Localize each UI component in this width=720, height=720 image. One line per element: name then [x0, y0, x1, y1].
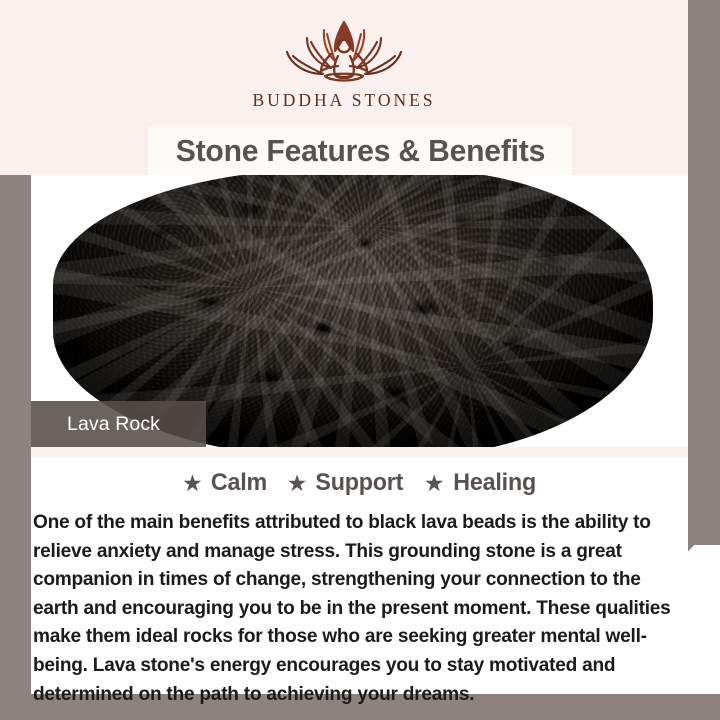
- stone-benefits-card: BUDDHA STONES Stone Features & Benefits …: [0, 0, 720, 720]
- keyword-label: Calm: [211, 469, 267, 497]
- keyword-item-support: ★ Support: [287, 469, 405, 497]
- frame-band-right: [688, 0, 720, 545]
- keyword-list: ★ Calm ★ Support ★ Healing: [31, 464, 688, 502]
- star-icon: ★: [424, 472, 445, 495]
- keyword-label: Healing: [453, 469, 536, 497]
- keyword-label: Support: [316, 469, 404, 497]
- star-icon: ★: [287, 472, 308, 495]
- title-panel: Stone Features & Benefits: [148, 126, 572, 176]
- keyword-item-healing: ★ Healing: [424, 469, 537, 497]
- frame-bevel-right: [688, 520, 720, 554]
- star-icon: ★: [182, 472, 203, 495]
- header: BUDDHA STONES Stone Features & Benefits: [0, 0, 688, 175]
- frame-band-left: [0, 175, 31, 720]
- photo-caption-label: Lava Rock: [67, 413, 160, 436]
- benefits-section: ★ Calm ★ Support ★ Healing One of the ma…: [31, 457, 688, 694]
- brand-name: BUDDHA STONES: [252, 90, 435, 111]
- keyword-item-calm: ★ Calm: [182, 469, 268, 497]
- brand-logo: BUDDHA STONES: [0, 16, 688, 121]
- photo-caption-band: Lava Rock: [31, 401, 206, 447]
- page-title: Stone Features & Benefits: [175, 133, 544, 169]
- benefits-description: One of the main benefits attributed to b…: [31, 508, 678, 708]
- lotus-meditation-icon: [269, 16, 419, 88]
- photo-bottom-strip: [31, 447, 688, 457]
